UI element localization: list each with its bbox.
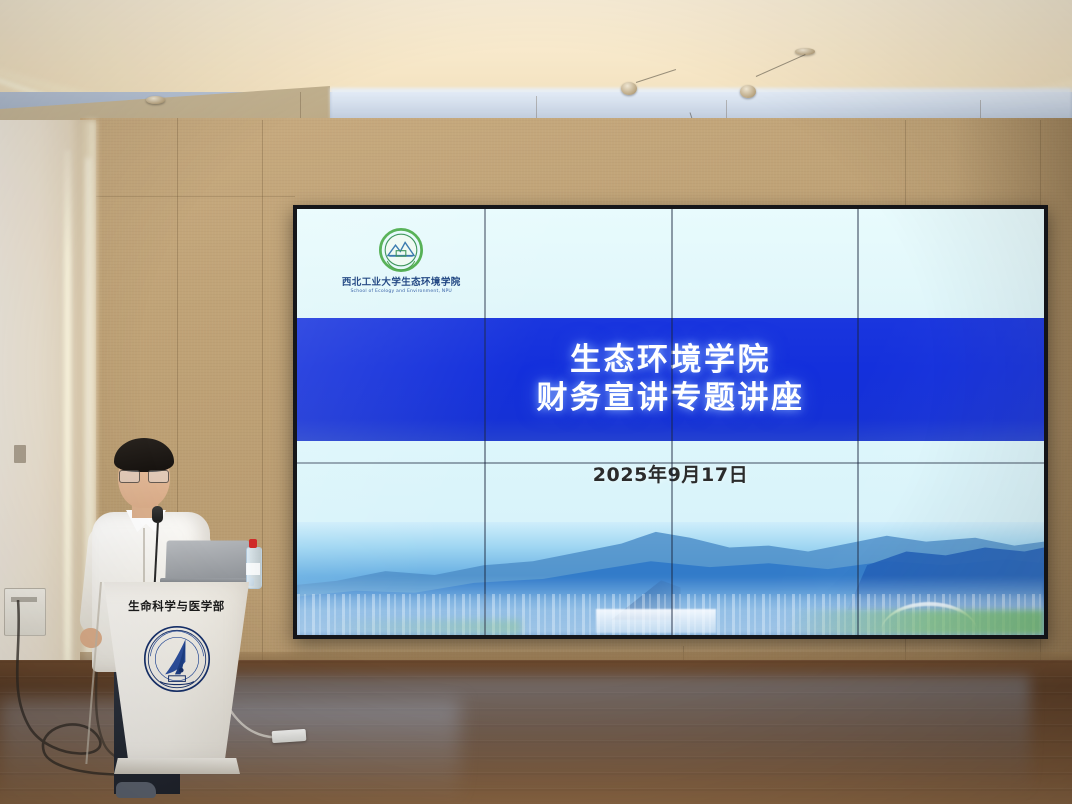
speaker-hair bbox=[114, 438, 174, 472]
glasses-lens-left bbox=[119, 470, 140, 483]
smoke-detector-icon bbox=[740, 85, 756, 98]
slide-logo-name-en: School of Ecology and Environment, NPU bbox=[350, 289, 452, 294]
slide-title-line2: 财务宣讲专题讲座 bbox=[537, 381, 805, 416]
photo-greenery-left bbox=[327, 620, 521, 635]
speaker-shoe bbox=[116, 782, 156, 798]
power-strip[interactable] bbox=[272, 729, 307, 743]
smoke-detector-icon bbox=[621, 82, 637, 95]
podium-title: 生命科学与医学部 bbox=[94, 598, 259, 614]
wall-outlet-icon[interactable] bbox=[14, 445, 26, 463]
podium-base bbox=[114, 758, 240, 774]
water-bottle-label bbox=[246, 563, 260, 575]
lecture-hall-photo: 西北工业大学生态环境学院 School of Ecology and Envir… bbox=[0, 0, 1072, 804]
slide-logo-name-cn: 西北工业大学生态环境学院 bbox=[342, 274, 461, 288]
laptop[interactable] bbox=[160, 540, 254, 588]
photo-building bbox=[596, 609, 716, 633]
photo-greenery-right bbox=[790, 610, 1044, 635]
slide-campus-photo bbox=[297, 522, 1044, 635]
water-bottle bbox=[246, 537, 260, 587]
npu-emblem-icon bbox=[142, 624, 212, 694]
laptop-lid bbox=[165, 540, 250, 580]
glasses-icon bbox=[119, 470, 169, 481]
slide-date: 2025年9月17日 bbox=[297, 460, 1044, 487]
water-bottle-cap bbox=[249, 539, 257, 548]
glasses-lens-right bbox=[148, 470, 169, 483]
wall-seam-horizontal bbox=[80, 196, 295, 197]
video-wall[interactable]: 西北工业大学生态环境学院 School of Ecology and Envir… bbox=[293, 205, 1048, 639]
school-emblem-icon bbox=[379, 228, 423, 272]
presentation-slide[interactable]: 西北工业大学生态环境学院 School of Ecology and Envir… bbox=[297, 209, 1044, 635]
ceiling-speaker-icon bbox=[146, 96, 165, 104]
slide-title-text: 生态环境学院 财务宣讲专题讲座 bbox=[297, 318, 1044, 441]
slide-title-line1: 生态环境学院 bbox=[570, 343, 771, 378]
slide-logo-block: 西北工业大学生态环境学院 School of Ecology and Envir… bbox=[342, 228, 461, 294]
podium: 生命科学与医学部 bbox=[94, 582, 259, 780]
microphone-stem bbox=[154, 521, 160, 583]
